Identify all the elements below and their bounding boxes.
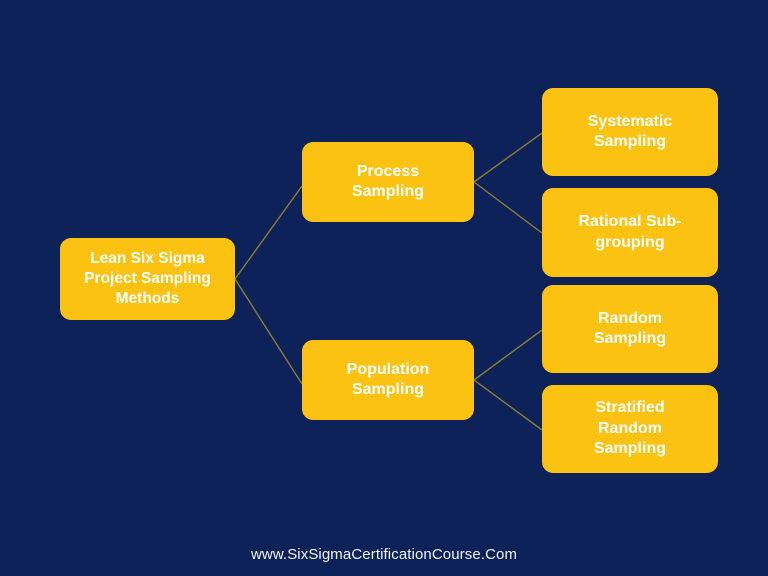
node-stratified-random-sampling[interactable]: Stratified Random Sampling [542, 385, 718, 473]
connector-process-to-systematic [474, 133, 542, 182]
node-systematic-sampling-label: Systematic Sampling [588, 112, 673, 153]
node-rational-sub-grouping-label: Rational Sub- grouping [578, 212, 681, 253]
node-root-label: Lean Six Sigma Project Sampling Methods [84, 249, 211, 308]
connector-root-to-population [235, 279, 302, 384]
node-process-sampling[interactable]: Process Sampling [302, 142, 474, 222]
node-stratified-random-sampling-label: Stratified Random Sampling [594, 398, 666, 459]
node-root[interactable]: Lean Six Sigma Project Sampling Methods [60, 238, 235, 320]
node-rational-sub-grouping[interactable]: Rational Sub- grouping [542, 188, 718, 277]
node-random-sampling-label: Random Sampling [594, 309, 666, 350]
node-population-sampling[interactable]: Population Sampling [302, 340, 474, 420]
node-process-sampling-label: Process Sampling [352, 162, 424, 203]
connector-population-to-random [474, 330, 542, 380]
diagram-canvas: Lean Six Sigma Project Sampling Methods … [0, 0, 768, 576]
connector-population-to-stratified [474, 380, 542, 430]
node-population-sampling-label: Population Sampling [347, 360, 430, 401]
connector-root-to-process [235, 186, 302, 279]
node-systematic-sampling[interactable]: Systematic Sampling [542, 88, 718, 176]
footer-website-url: www.SixSigmaCertificationCourse.Com [0, 546, 768, 563]
connector-process-to-rational [474, 182, 542, 233]
node-random-sampling[interactable]: Random Sampling [542, 285, 718, 373]
